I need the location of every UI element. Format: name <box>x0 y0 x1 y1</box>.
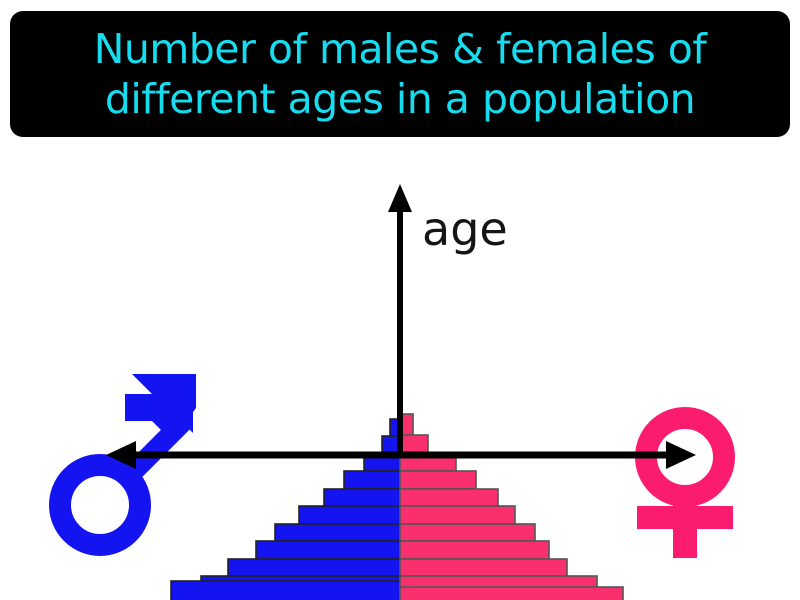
bar-male <box>275 524 401 541</box>
bar-female <box>400 435 428 454</box>
title-banner: Number of males & females of different a… <box>10 11 790 137</box>
bar-female <box>400 471 476 489</box>
bar-male <box>171 581 401 600</box>
bar-female <box>400 559 567 576</box>
population-pyramid-chart <box>0 150 800 600</box>
bar-male <box>256 541 401 559</box>
age-axis-label: age <box>422 206 508 252</box>
bar-female <box>400 541 549 559</box>
female-bars <box>400 414 623 600</box>
bar-male <box>344 471 401 489</box>
bar-female <box>400 489 498 506</box>
title-line-1: Number of males & females of <box>94 24 707 74</box>
bar-female <box>400 524 535 541</box>
bar-female <box>400 587 623 600</box>
bar-male <box>228 559 401 576</box>
bar-male <box>299 506 401 524</box>
title-line-2: different ages in a population <box>105 74 695 124</box>
venus-symbol <box>637 418 733 558</box>
male-bars <box>171 419 401 600</box>
bar-male <box>324 489 401 506</box>
bar-female <box>400 506 515 524</box>
population-pyramid-figure: age <box>0 150 800 600</box>
